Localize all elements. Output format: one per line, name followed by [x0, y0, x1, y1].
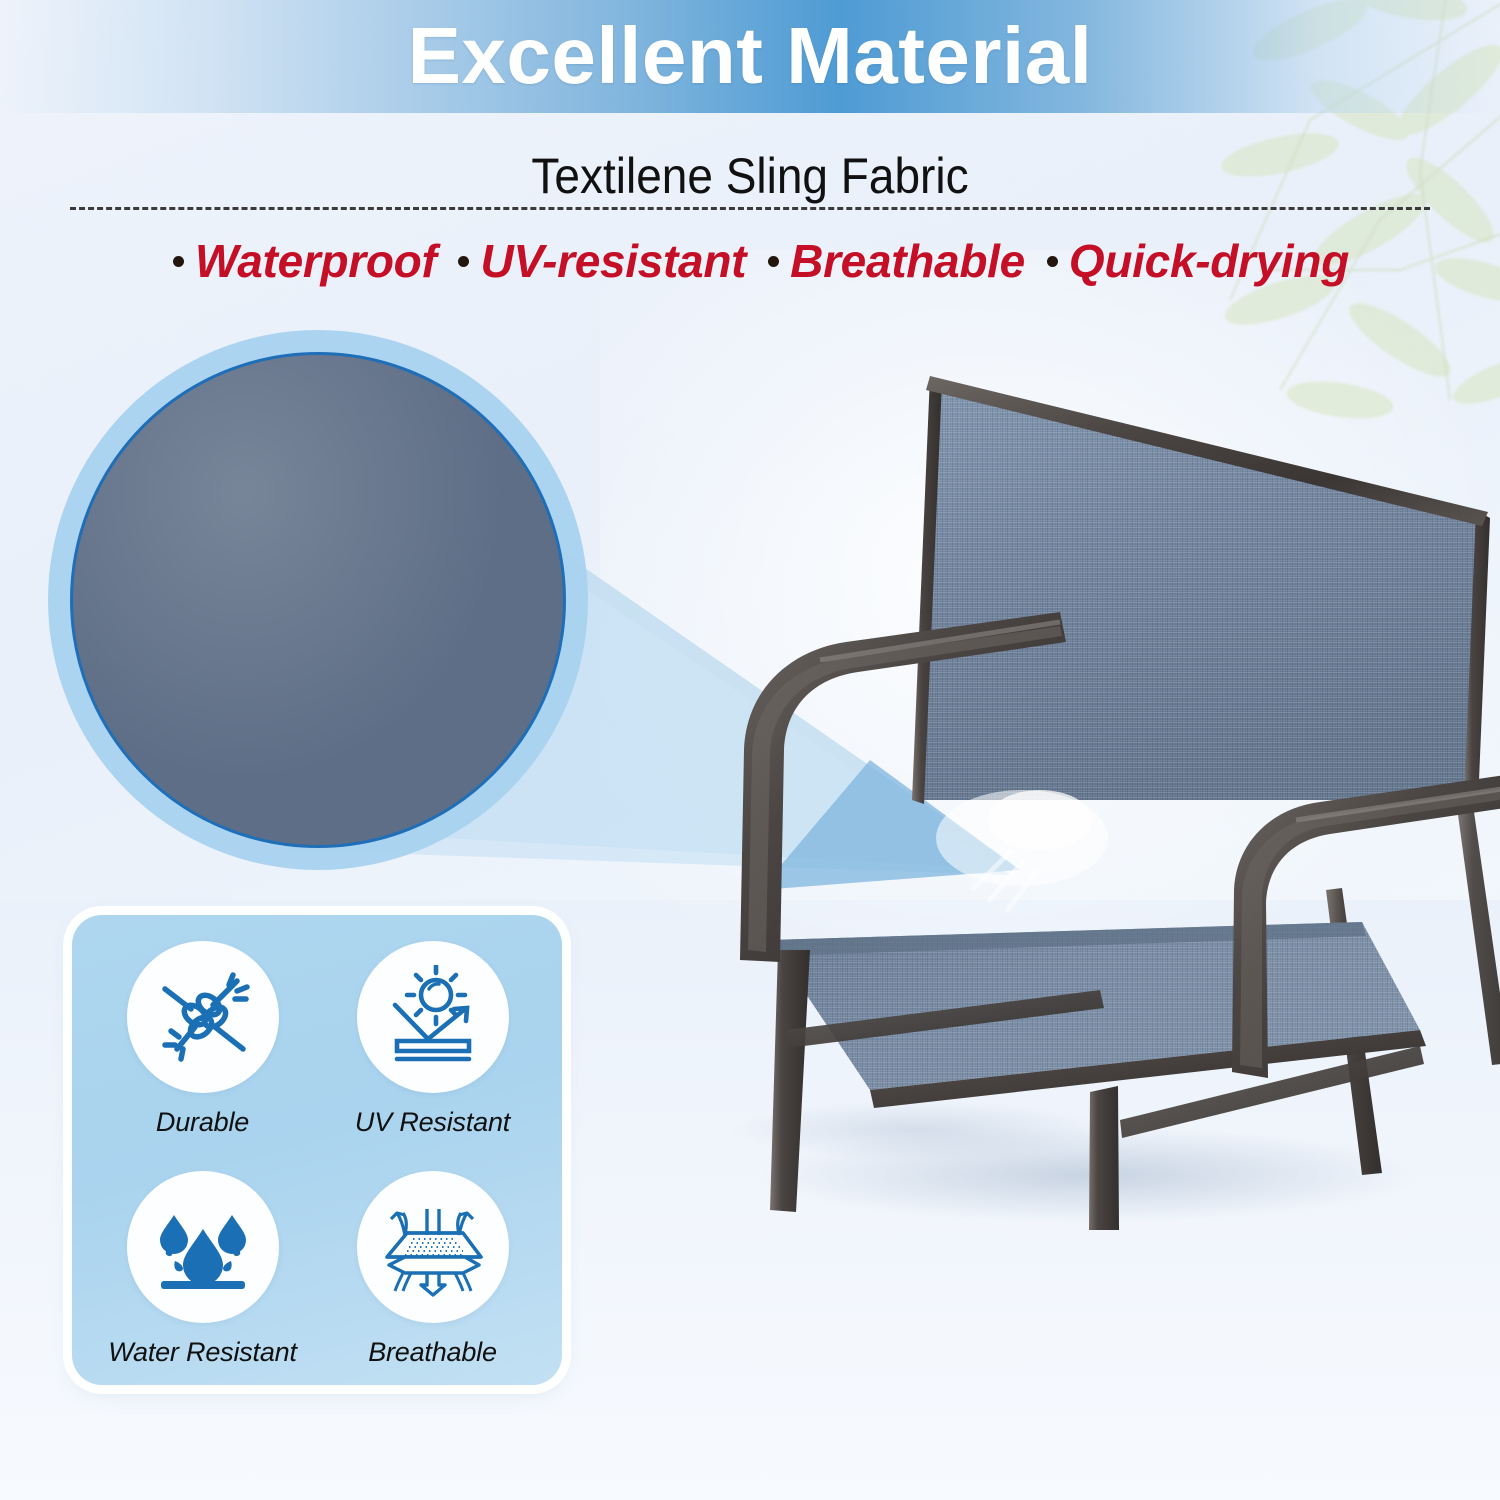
- chain-link-icon: [151, 965, 255, 1069]
- feature-icon-bubble: [127, 941, 279, 1093]
- claim-item: Quick-drying: [1025, 232, 1349, 290]
- feature-uv-resistant: UV Resistant: [320, 941, 545, 1139]
- claim-label: UV-resistant: [480, 232, 746, 290]
- feature-label: Water Resistant: [90, 1335, 315, 1369]
- bullet-dot-icon: [173, 256, 184, 267]
- air-flow-icon: [381, 1195, 485, 1299]
- feature-label: Durable: [90, 1105, 315, 1139]
- feature-label: UV Resistant: [320, 1105, 545, 1139]
- feature-icon-bubble: [357, 941, 509, 1093]
- bullet-dot-icon: [768, 256, 779, 267]
- page-title: Excellent Material: [0, 6, 1500, 106]
- water-drops-icon: [151, 1195, 255, 1299]
- feature-water-resistant: Water Resistant: [90, 1171, 315, 1369]
- feature-durable: Durable: [90, 941, 315, 1139]
- bullet-dot-icon: [1047, 256, 1058, 267]
- bullet-dot-icon: [458, 256, 469, 267]
- claim-label: Breathable: [790, 232, 1025, 290]
- claims-row: Waterproof UV-resistant Breathable Quick…: [0, 232, 1500, 290]
- feature-panel: Durable UV Resistant: [72, 915, 562, 1385]
- claim-item: UV-resistant: [436, 232, 746, 290]
- patio-chair-image: [620, 330, 1500, 1230]
- feature-breathable: Breathable: [320, 1171, 545, 1369]
- swatch-texture: [70, 352, 566, 848]
- feature-icon-bubble: [127, 1171, 279, 1323]
- claim-item: Waterproof: [151, 232, 437, 290]
- feature-icon-bubble: [357, 1171, 509, 1323]
- swatch-sheen: [73, 355, 563, 845]
- fabric-swatch: [48, 330, 588, 870]
- dashed-divider: [70, 207, 1430, 210]
- page-subtitle: Textilene Sling Fabric: [60, 145, 1440, 207]
- feature-label: Breathable: [320, 1335, 545, 1369]
- claim-label: Quick-drying: [1069, 232, 1349, 290]
- claim-item: Breathable: [746, 232, 1025, 290]
- sun-reflect-icon: [381, 965, 485, 1069]
- claim-label: Waterproof: [195, 232, 437, 290]
